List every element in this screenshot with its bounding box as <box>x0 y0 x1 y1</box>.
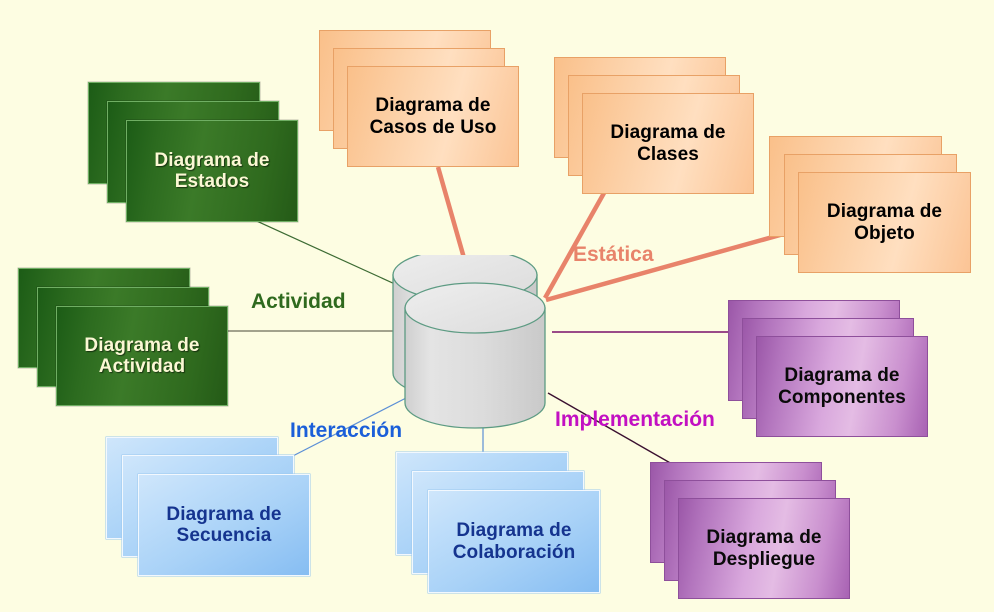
card-objeto[interactable]: Diagrama de Objeto <box>798 172 971 273</box>
uml-diagram-canvas: Diagrama de Estados Diagrama de Activida… <box>0 0 994 612</box>
relation-label-implementacion: Implementación <box>555 408 715 432</box>
card-secuencia-label: Diagrama de Secuencia <box>160 504 287 547</box>
card-despliegue-label: Diagrama de Despliegue <box>700 527 827 570</box>
card-stack-estados[interactable]: Diagrama de Estados <box>88 82 298 222</box>
card-colaboracion[interactable]: Diagrama de Colaboración <box>428 490 600 593</box>
card-actividad[interactable]: Diagrama de Actividad <box>56 306 228 406</box>
card-estados[interactable]: Diagrama de Estados <box>126 120 298 222</box>
relation-label-interaccion: Interacción <box>290 419 402 443</box>
card-stack-despliegue[interactable]: Diagrama de Despliegue <box>650 462 850 600</box>
card-componentes[interactable]: Diagrama de Componentes <box>756 336 928 437</box>
central-model-cylinders <box>385 255 565 435</box>
cylinder-front <box>405 283 545 428</box>
card-objeto-label: Diagrama de Objeto <box>821 201 948 244</box>
card-casos-de-uso[interactable]: Diagrama de Casos de Uso <box>347 66 519 167</box>
card-stack-objeto[interactable]: Diagrama de Objeto <box>769 136 971 273</box>
card-secuencia[interactable]: Diagrama de Secuencia <box>138 474 310 576</box>
card-despliegue[interactable]: Diagrama de Despliegue <box>678 498 850 599</box>
card-stack-clases[interactable]: Diagrama de Clases <box>554 57 754 195</box>
card-clases-label: Diagrama de Clases <box>604 122 731 165</box>
card-casos-de-uso-label: Diagrama de Casos de Uso <box>364 95 503 138</box>
card-estados-label: Diagrama de Estados <box>148 150 275 193</box>
relation-label-actividad: Actividad <box>251 290 346 314</box>
card-stack-colaboracion[interactable]: Diagrama de Colaboración <box>396 452 600 593</box>
card-stack-componentes[interactable]: Diagrama de Componentes <box>728 300 928 438</box>
relation-label-estatica: Estática <box>573 243 654 267</box>
card-stack-secuencia[interactable]: Diagrama de Secuencia <box>106 437 310 576</box>
card-clases[interactable]: Diagrama de Clases <box>582 93 754 194</box>
card-stack-actividad[interactable]: Diagrama de Actividad <box>18 268 228 406</box>
card-componentes-label: Diagrama de Componentes <box>772 365 912 408</box>
card-actividad-label: Diagrama de Actividad <box>78 335 205 378</box>
card-stack-casos-de-uso[interactable]: Diagrama de Casos de Uso <box>319 30 519 168</box>
card-colaboracion-label: Diagrama de Colaboración <box>447 520 582 563</box>
